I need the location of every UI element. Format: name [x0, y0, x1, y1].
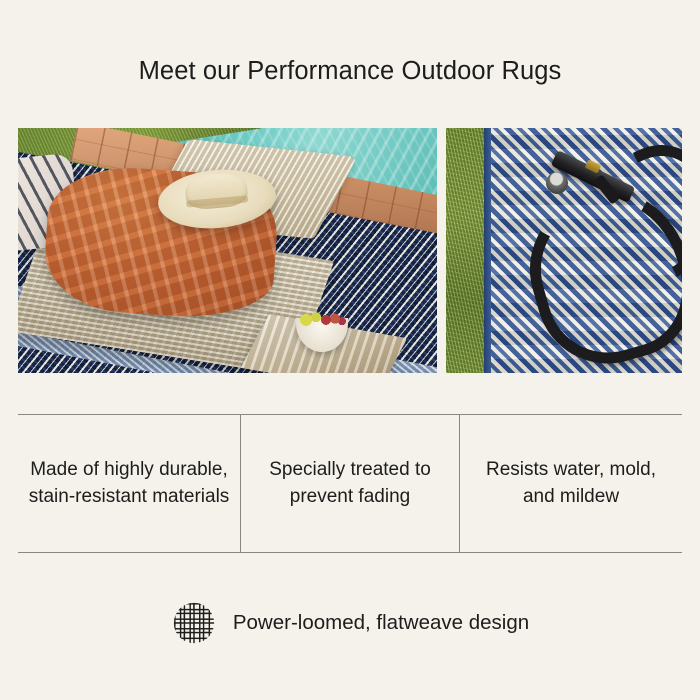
grass-texture [446, 128, 484, 373]
poolside-rug-photo [18, 128, 437, 373]
rug-border-edge [484, 128, 491, 373]
feature-item-label: Specially treated to prevent fading [251, 457, 449, 510]
feature-item-label: Resists water, mold, and mildew [470, 457, 672, 510]
grass-lawn [446, 128, 484, 373]
feature-list: Made of highly durable, stain-resistant … [18, 414, 682, 553]
feature-item-fade-resistant: Specially treated to prevent fading [240, 415, 460, 552]
woven-flatweave-icon [171, 600, 217, 646]
page-title: Meet our Performance Outdoor Rugs [0, 54, 700, 88]
feature-item-label: Made of highly durable, stain-resistant … [28, 457, 230, 510]
marketing-panel: Meet our Performance Outdoor Rugs [0, 0, 700, 700]
feature-item-durable: Made of highly durable, stain-resistant … [18, 415, 240, 552]
footer-note: Power-loomed, flatweave design [0, 600, 700, 646]
hose-on-rug-photo [446, 128, 682, 373]
fruit-pile [297, 310, 347, 328]
image-gallery [18, 128, 682, 373]
footer-note-label: Power-loomed, flatweave design [233, 609, 529, 637]
feature-item-weather-resistant: Resists water, mold, and mildew [460, 415, 682, 552]
